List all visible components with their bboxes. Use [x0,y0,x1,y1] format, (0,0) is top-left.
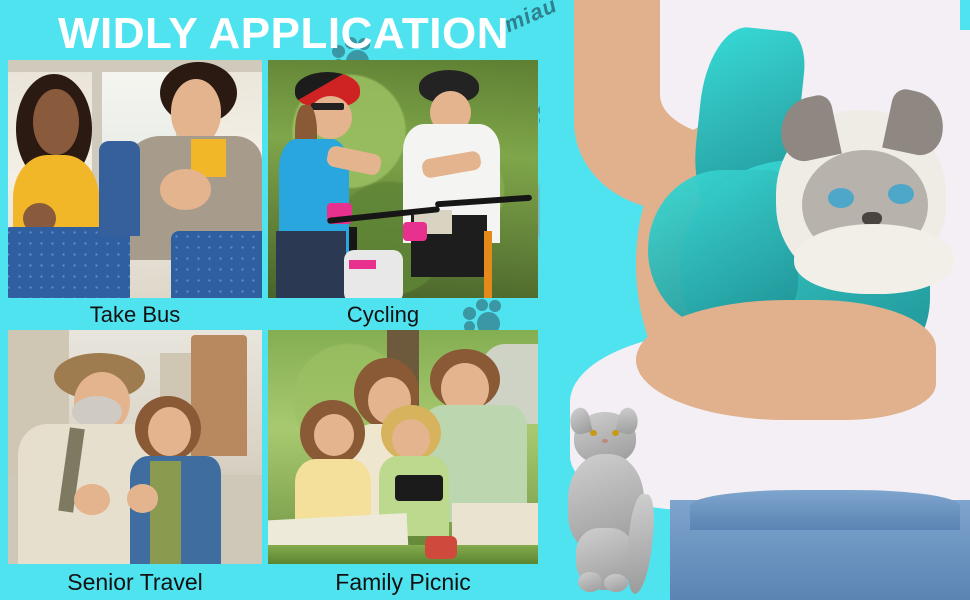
caption-take-bus: Take Bus [8,299,262,331]
photo-senior-travel [8,330,262,564]
caption-cycling: Cycling [268,299,498,331]
caption-family-picnic: Family Picnic [268,566,538,598]
grid-cell-cycling [268,60,538,298]
product-infographic-poster: WIDLY APPLICATION miau [0,0,970,600]
photo-cycling [268,60,538,298]
grid-cell-senior-travel [8,330,262,564]
photo-family-picnic [268,330,538,564]
grid-cell-family-picnic [268,330,538,564]
page-title: WIDLY APPLICATION [58,8,509,60]
caption-senior-travel: Senior Travel [8,566,262,598]
photo-take-bus [8,60,262,298]
sitting-cat-mascot [552,408,672,598]
grid-cell-take-bus [8,60,262,298]
